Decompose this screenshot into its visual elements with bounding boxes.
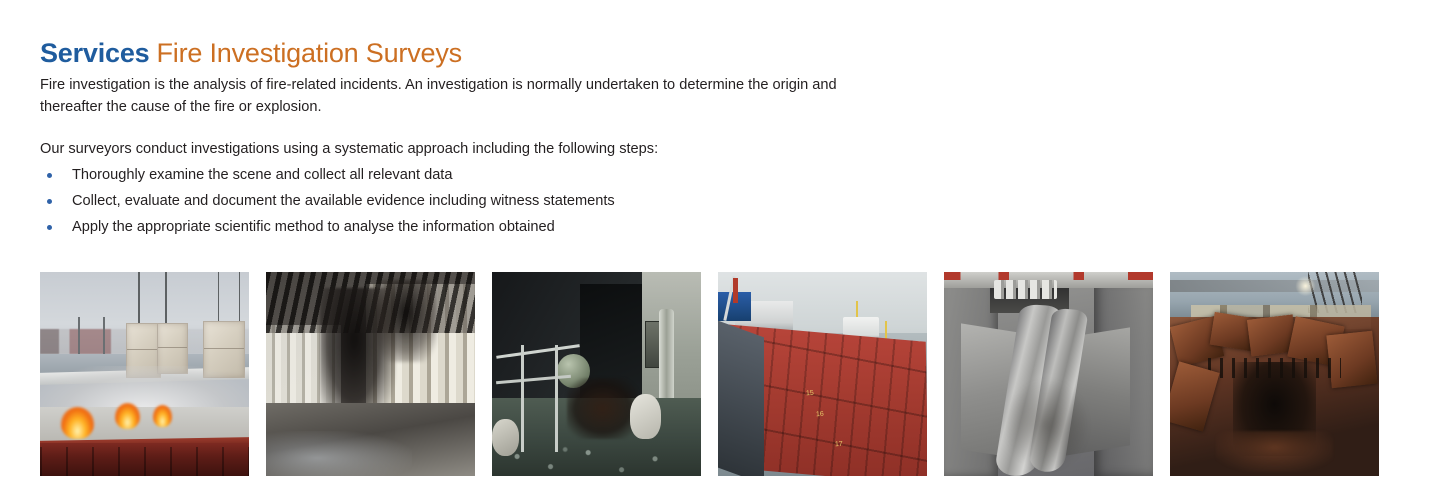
list-item-label: Thoroughly examine the scene and collect… [72,167,452,183]
photo-damaged-machinery-space [492,272,701,476]
gallery-image-1 [40,272,249,476]
investigation-steps-list: Thoroughly examine the scene and collect… [40,164,940,242]
body-copy: Fire investigation is the analysis of fi… [40,74,900,178]
approach-paragraph: Our surveyors conduct investigations usi… [40,138,900,160]
gallery-image-5 [944,272,1153,476]
hatch-number: 16 [816,410,824,418]
list-item-label: Apply the appropriate scientific method … [72,219,555,235]
gallery-image-4: 15 16 17 [718,272,927,476]
bullet-icon [47,225,52,230]
photo-steel-cargo-hold [944,272,1153,476]
photo-burnt-container-interior [266,272,475,476]
gallery-image-3 [492,272,701,476]
list-item: Apply the appropriate scientific method … [40,216,940,238]
bullet-icon [47,173,52,178]
list-item: Thoroughly examine the scene and collect… [40,164,940,186]
services-page: ServicesFire Investigation Surveys Fire … [0,0,1435,500]
page-title: ServicesFire Investigation Surveys [40,36,462,70]
image-gallery: 15 16 17 [40,272,1385,500]
gallery-image-2 [266,272,475,476]
page-title-primary: Services [40,38,150,68]
intro-paragraph: Fire investigation is the analysis of fi… [40,74,900,118]
hatch-number: 15 [806,390,814,398]
photo-burning-cargo [40,272,249,476]
photo-bulk-carrier-with-tugs: 15 16 17 [718,272,927,476]
hatch-number: 17 [835,441,843,449]
gallery-image-6 [1170,272,1379,476]
page-title-secondary: Fire Investigation Surveys [157,38,462,68]
bullet-icon [47,199,52,204]
photo-collapsed-container-stack [1170,272,1379,476]
list-item-label: Collect, evaluate and document the avail… [72,193,615,209]
list-item: Collect, evaluate and document the avail… [40,190,940,212]
